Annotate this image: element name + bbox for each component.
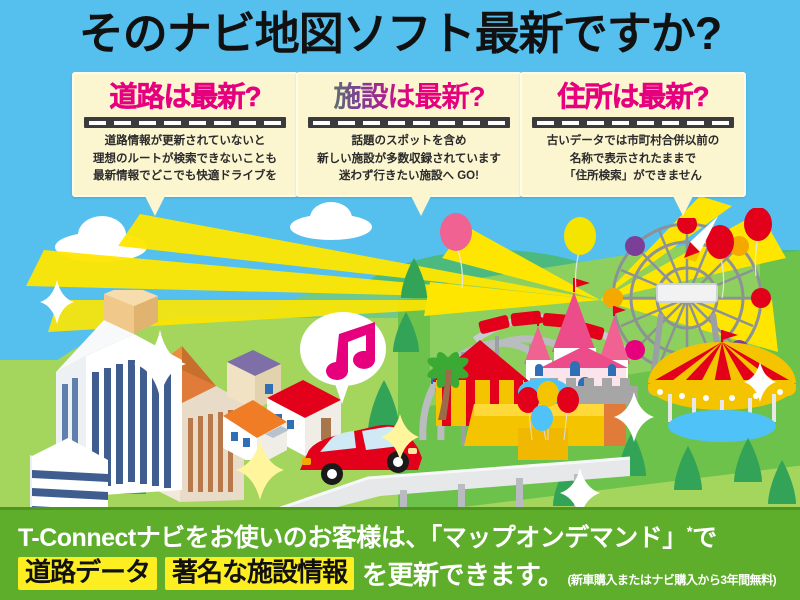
callout-road-line-2: 理想のルートが検索できないことも	[80, 151, 290, 168]
banner-subline: 道路データ 著名な施設情報 を更新できます。 (新車購入またはナビ購入から3年間…	[18, 555, 776, 592]
banner-headline: T-Connectナビをお使いのお客様は、「マップオンデマンド」*で	[18, 518, 717, 554]
callout-road-body: 道路情報が更新されていないと 理想のルートが検索できないことも 最新情報でどこで…	[80, 133, 290, 185]
road-divider-graphic	[84, 117, 286, 128]
callout-road-title: 道路は最新?	[80, 82, 290, 111]
callout-road: 道路は最新? 道路情報が更新されていないと 理想のルートが検索できないことも 最…	[72, 72, 298, 197]
callout-facility-line-1: 話題のスポットを含め	[304, 133, 514, 150]
page-title: そのナビ地図ソフト最新ですか?	[0, 8, 800, 60]
callout-address-title: 住所は最新?	[528, 82, 738, 111]
callout-address-line-3: 「住所検索」ができません	[528, 168, 738, 185]
callout-row: 道路は最新? 道路情報が更新されていないと 理想のルートが検索できないことも 最…	[0, 72, 800, 222]
callout-road-tail	[144, 194, 166, 216]
bottom-banner: T-Connectナビをお使いのお客様は、「マップオンデマンド」*で 道路データ…	[0, 507, 800, 600]
road-divider-graphic	[532, 117, 734, 128]
callout-facility-line-2: 新しい施設が多数収録されています	[304, 151, 514, 168]
banner-fine-print: (新車購入またはナビ購入から3年間無料)	[567, 571, 776, 588]
callout-facility: 施設は最新? 話題のスポットを含め 新しい施設が多数収録されています 迷わず行き…	[296, 72, 522, 197]
callout-address-tail	[672, 194, 694, 216]
callout-address-line-2: 名称で表示されたままで	[528, 151, 738, 168]
callout-facility-tail	[410, 194, 432, 216]
callout-address: 住所は最新? 古いデータでは市町村合併以前の 名称で表示されたままで 「住所検索…	[520, 72, 746, 197]
banner-update-text: を更新できます。	[362, 555, 563, 592]
road-divider-graphic	[308, 117, 510, 128]
callout-address-line-1: 古いデータでは市町村合併以前の	[528, 133, 738, 150]
banner-headline-text: T-Connectナビをお使いのお客様は、「マップオンデマンド」	[18, 524, 687, 552]
callout-address-body: 古いデータでは市町村合併以前の 名称で表示されたままで 「住所検索」ができません	[528, 133, 738, 185]
promo-banner: そのナビ地図ソフト最新ですか? 道路は最新? 道路情報が更新されていないと 理想…	[0, 0, 800, 600]
callout-facility-line-3: 迷わず行きたい施設へ GO!	[304, 168, 514, 185]
callout-facility-body: 話題のスポットを含め 新しい施設が多数収録されています 迷わず行きたい施設へ G…	[304, 133, 514, 185]
callout-facility-title: 施設は最新?	[304, 82, 514, 111]
chip-facility-info: 著名な施設情報	[165, 557, 354, 590]
chip-road-data: 道路データ	[18, 557, 157, 590]
callout-road-line-1: 道路情報が更新されていないと	[80, 133, 290, 150]
callout-road-line-3: 最新情報でどこでも快適ドライブを	[80, 168, 290, 185]
banner-headline-suffix: で	[692, 524, 717, 552]
